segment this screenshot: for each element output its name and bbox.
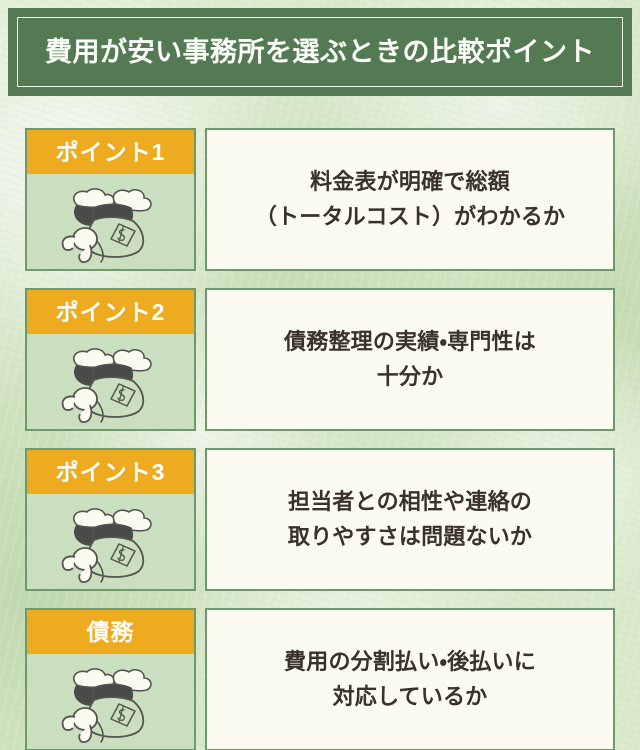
card-left-panel: 債務 (25, 608, 196, 750)
card-icon-area (27, 174, 194, 269)
point-badge: 債務 (27, 610, 194, 654)
header-inner-frame: 費用が安い事務所を選ぶときの比較ポイント (17, 17, 623, 87)
card-icon-area (27, 654, 194, 749)
point-card: ポイント1 (0, 128, 640, 271)
card-left-panel: ポイント1 (25, 128, 196, 271)
money-bag-icon (47, 179, 175, 265)
point-card: ポイント2 (0, 288, 640, 431)
point-card-list: ポイント1 (0, 128, 640, 750)
point-card: 債務 (0, 608, 640, 750)
card-text-panel: 料金表が明確で総額 （トータルコスト）がわかるか (205, 128, 615, 271)
page-background: 費用が安い事務所を選ぶときの比較ポイント ポイント1 (0, 0, 640, 750)
point-badge-label: ポイント3 (56, 461, 166, 484)
card-text: 担当者との相性や連絡の 取りやすさは問題ないか (288, 485, 532, 553)
money-bag-icon (47, 659, 175, 745)
card-text: 費用の分割払い・後払いに 対応しているか (284, 645, 536, 713)
point-badge: ポイント3 (27, 450, 194, 494)
card-text: 債務整理の実績・専門性は 十分か (284, 325, 536, 393)
card-left-panel: ポイント2 (25, 288, 196, 431)
point-badge: ポイント2 (27, 290, 194, 334)
card-text-panel: 費用の分割払い・後払いに 対応しているか (205, 608, 615, 750)
point-badge-label: 債務 (87, 621, 135, 644)
point-badge-label: ポイント1 (56, 141, 166, 164)
card-text-panel: 担当者との相性や連絡の 取りやすさは問題ないか (205, 448, 615, 591)
money-bag-icon (47, 339, 175, 425)
card-icon-area (27, 334, 194, 429)
point-badge-label: ポイント2 (56, 301, 166, 324)
point-card: ポイント3 (0, 448, 640, 591)
header-banner: 費用が安い事務所を選ぶときの比較ポイント (8, 8, 632, 96)
card-icon-area (27, 494, 194, 589)
card-left-panel: ポイント3 (25, 448, 196, 591)
point-badge: ポイント1 (27, 130, 194, 174)
money-bag-icon (47, 499, 175, 585)
page-title: 費用が安い事務所を選ぶときの比較ポイント (45, 36, 595, 68)
card-text: 料金表が明確で総額 （トータルコスト）がわかるか (255, 165, 565, 233)
card-text-panel: 債務整理の実績・専門性は 十分か (205, 288, 615, 431)
